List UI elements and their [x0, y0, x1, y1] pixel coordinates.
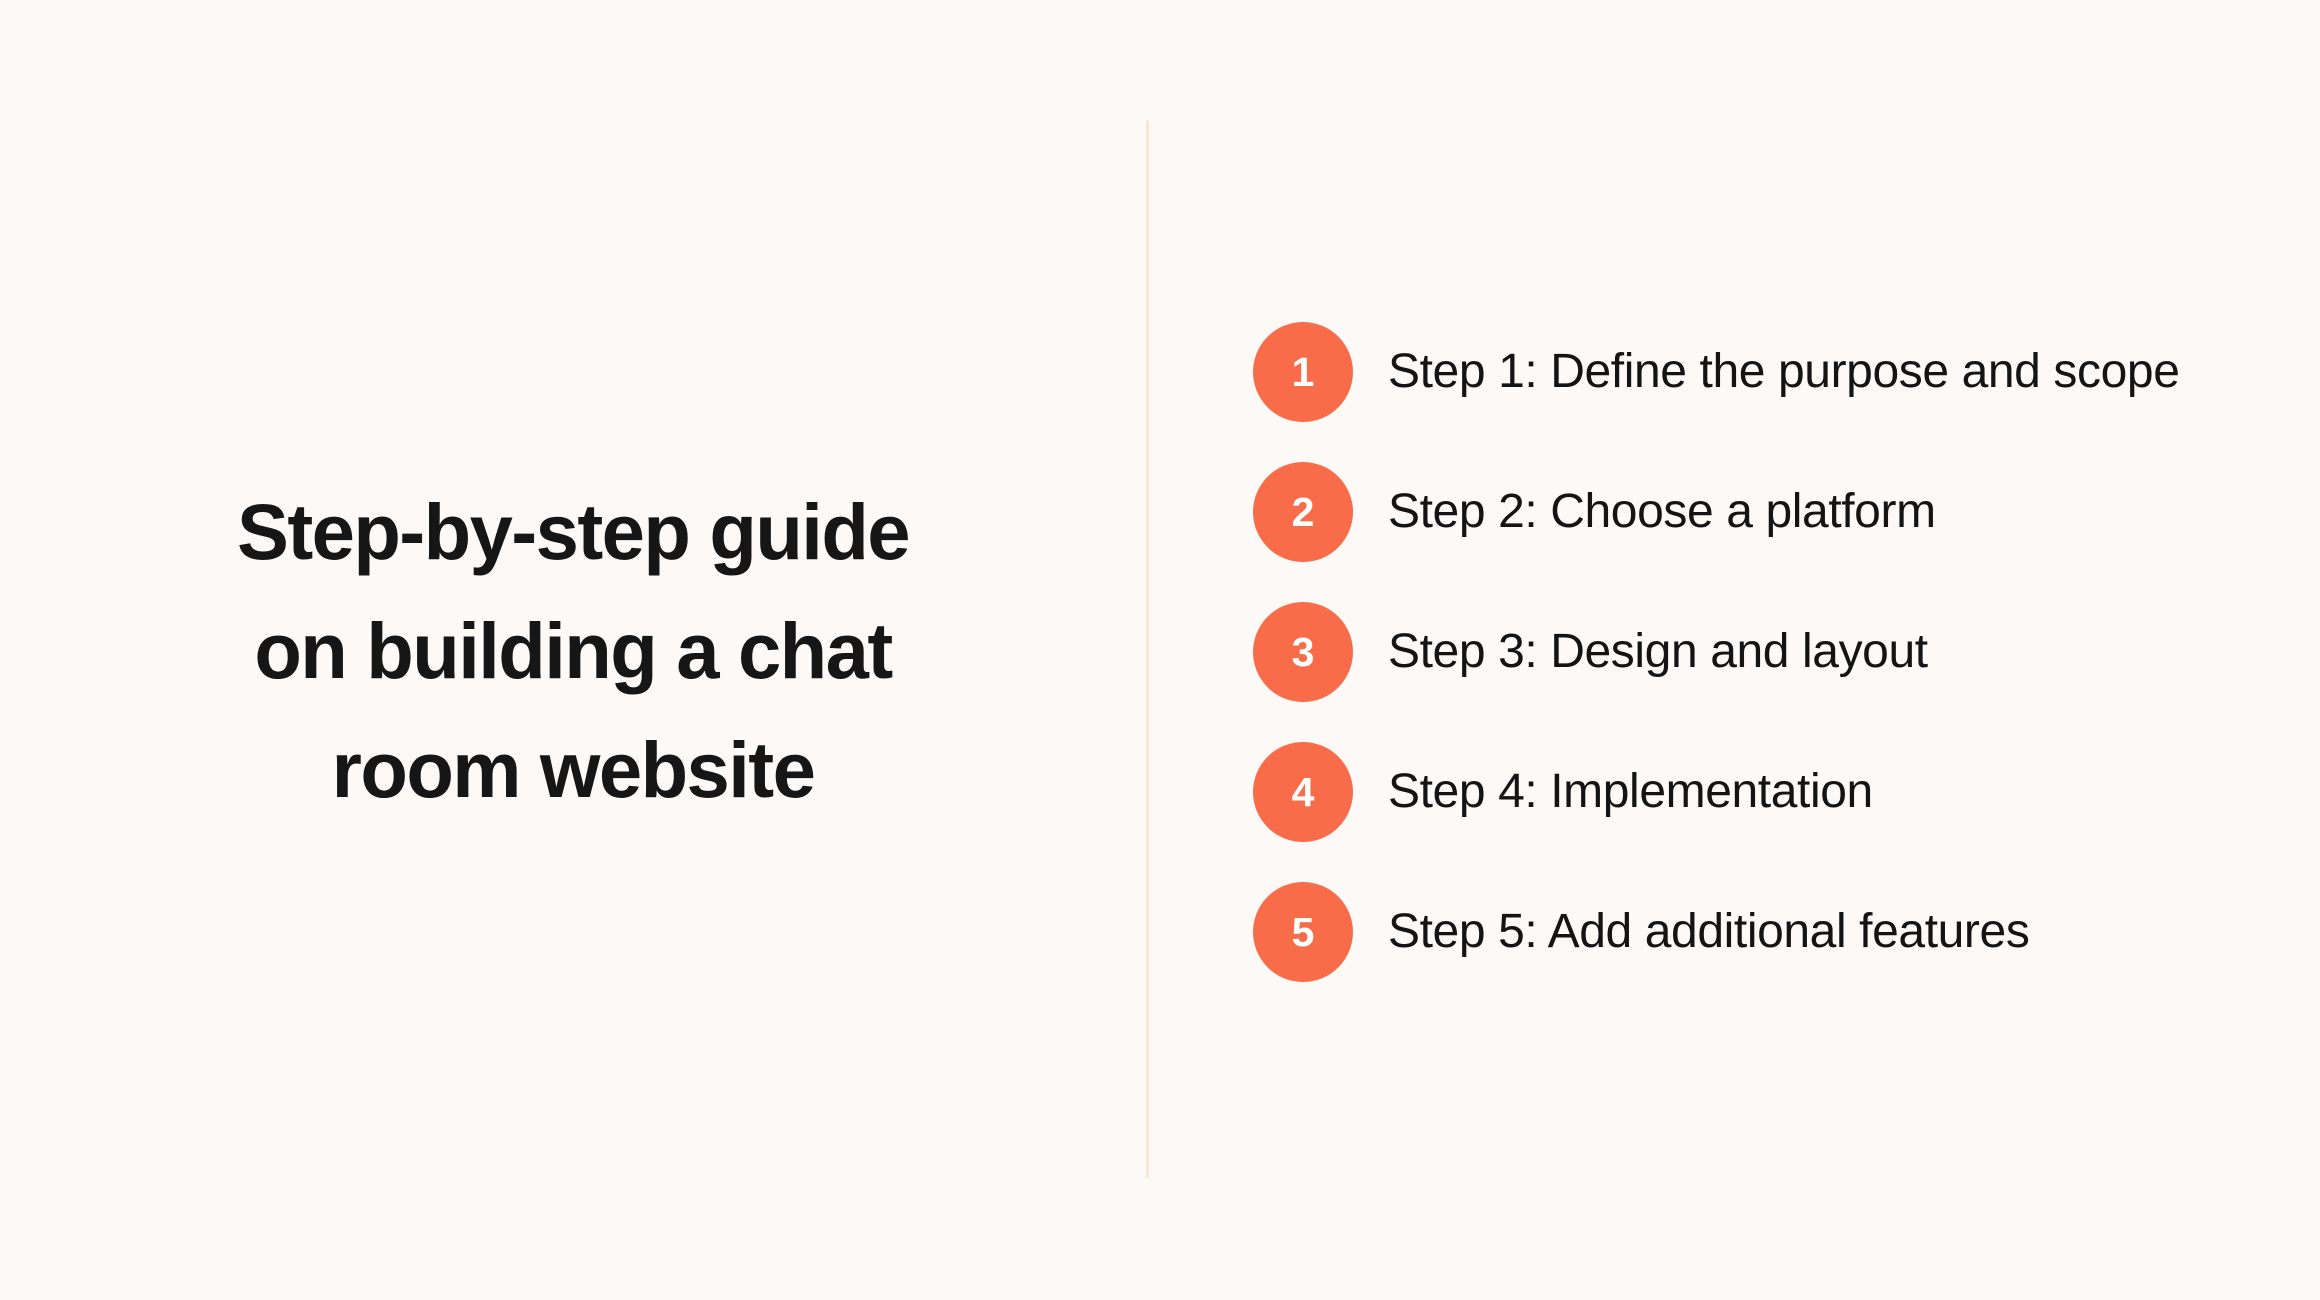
- steps-list: 1 Step 1: Define the purpose and scope 2…: [1253, 322, 2253, 982]
- list-item[interactable]: 5 Step 5: Add additional features: [1253, 882, 2253, 982]
- page-title-line-3: room website: [130, 710, 1017, 829]
- page-title-line-1: Step-by-step guide: [130, 472, 1017, 591]
- list-item[interactable]: 4 Step 4: Implementation: [1253, 742, 2253, 842]
- list-item[interactable]: 3 Step 3: Design and layout: [1253, 602, 2253, 702]
- step-label-5: Step 5: Add additional features: [1388, 904, 2029, 960]
- headline-panel: Step-by-step guide on building a chat ro…: [0, 0, 1146, 1300]
- infographic-canvas: Step-by-step guide on building a chat ro…: [0, 0, 2320, 1300]
- step-number-badge-5: 5: [1253, 882, 1353, 982]
- list-item[interactable]: 2 Step 2: Choose a platform: [1253, 462, 2253, 562]
- list-item[interactable]: 1 Step 1: Define the purpose and scope: [1253, 322, 2253, 422]
- step-label-3: Step 3: Design and layout: [1388, 624, 1928, 680]
- step-number-badge-1: 1: [1253, 322, 1353, 422]
- page-title-line-2: on building a chat: [130, 591, 1017, 710]
- vertical-divider: [1146, 120, 1149, 1178]
- step-label-1: Step 1: Define the purpose and scope: [1388, 344, 2180, 400]
- page-title: Step-by-step guide on building a chat ro…: [130, 472, 1017, 829]
- step-label-4: Step 4: Implementation: [1388, 764, 1873, 820]
- step-label-2: Step 2: Choose a platform: [1388, 484, 1936, 540]
- step-number-badge-4: 4: [1253, 742, 1353, 842]
- step-number-badge-3: 3: [1253, 602, 1353, 702]
- step-number-badge-2: 2: [1253, 462, 1353, 562]
